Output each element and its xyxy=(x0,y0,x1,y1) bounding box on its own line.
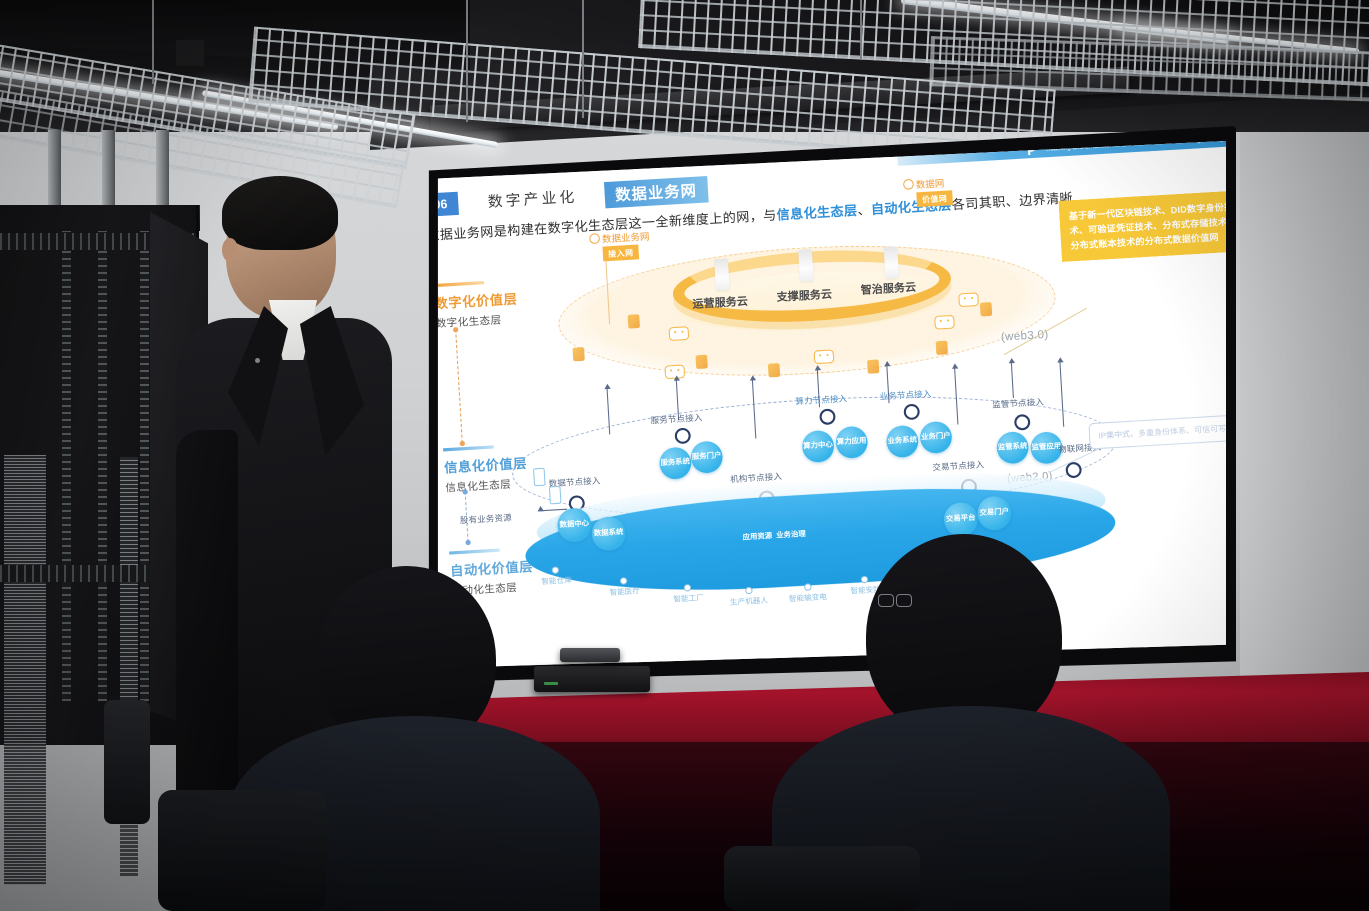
layer-connector-digital xyxy=(455,329,464,443)
chair-left xyxy=(158,790,326,911)
tray-hanger xyxy=(582,0,584,118)
cloud-pillar xyxy=(798,249,814,281)
cloud-label-governance: 智治服务云 xyxy=(860,279,916,298)
robot-icon xyxy=(668,326,689,341)
mobile-icon xyxy=(549,486,562,505)
layer-accent-bar xyxy=(449,549,500,555)
blockchain-callout: 基于新一代区块链技术、DID数字身份技术、可验证凭证技术、分布式存储技术与分布式… xyxy=(1058,190,1226,262)
robot-icon xyxy=(814,349,835,364)
media-player-box[interactable] xyxy=(534,666,650,692)
leaf-dot xyxy=(684,584,692,592)
rack-rail xyxy=(98,231,107,701)
leaf-dot xyxy=(861,576,869,584)
robot-icon xyxy=(958,292,979,307)
leaf-label-warehouse: 智能仓库 xyxy=(535,576,578,587)
tray-hanger xyxy=(466,0,468,122)
device-led xyxy=(544,682,558,685)
layer-label-digital: 数字化价值层 数字化生态层 xyxy=(434,279,519,330)
cloud-label-support: 支撑服务云 xyxy=(776,286,832,305)
connector-dot xyxy=(462,489,468,495)
leaf-label-factory: 智能工厂 xyxy=(667,593,710,604)
lede-highlight-1: 信息化生态层 xyxy=(776,203,858,222)
rack-support-posts xyxy=(40,130,190,210)
connector-dot xyxy=(465,540,471,546)
rack-mesh-panel xyxy=(4,455,46,885)
display-screen: 电子政务建模仿真国家工程实验室 Modeling and Emulation i… xyxy=(434,140,1226,668)
cube-icon xyxy=(695,355,707,369)
layer-title: 数字化价值层 xyxy=(434,288,518,313)
presentation-slide: 电子政务建模仿真国家工程实验室 Modeling and Emulation i… xyxy=(434,140,1226,668)
cube-icon xyxy=(980,302,992,316)
data-business-net-label: 数据业务网 xyxy=(602,229,650,245)
leaf-label-power: 智能输变电 xyxy=(786,593,831,605)
access-net-chip: 接入网 xyxy=(602,245,639,262)
layer-accent-bar xyxy=(434,281,484,287)
conduit-bracket xyxy=(176,40,204,66)
tray-hanger xyxy=(152,0,154,84)
access-stem xyxy=(1011,362,1014,398)
screenshot-stage: 电子政务建模仿真国家工程实验室 Modeling and Emulation i… xyxy=(0,0,1369,911)
mobile-icon xyxy=(533,468,546,487)
leaf-dot xyxy=(804,583,812,591)
value-net-chip: 价值网 xyxy=(916,190,953,207)
lede-part2: 各司其职、边界清晰 xyxy=(951,191,1073,213)
internet-model-callout: IP集中式、多重身份体系、可信可写互联网 xyxy=(1088,413,1226,450)
cube-icon xyxy=(936,341,948,355)
leaf-dot xyxy=(745,587,753,595)
layer-accent-bar xyxy=(443,445,494,451)
presenter-ear xyxy=(222,238,238,262)
cube-icon xyxy=(572,347,584,361)
connector-dot xyxy=(453,327,459,333)
layer-subtitle: 数字化生态层 xyxy=(435,310,519,331)
chair-armrest-left xyxy=(104,700,150,824)
cube-icon xyxy=(768,363,780,377)
rack-rail xyxy=(62,231,71,701)
tray-hanger xyxy=(860,0,862,60)
connector-dot xyxy=(460,441,466,447)
glasses-icon xyxy=(878,594,912,606)
cloud-pillar xyxy=(714,258,730,290)
leaf-label-medical: 智能医疗 xyxy=(603,587,646,598)
slide-title: 数据业务网 xyxy=(604,176,708,208)
robot-icon xyxy=(934,315,955,330)
data-net-label: 数据网 xyxy=(915,176,944,191)
room-wall-right xyxy=(1240,60,1369,760)
wall-display[interactable]: 电子政务建模仿真国家工程实验室 Modeling and Emulation i… xyxy=(424,126,1236,682)
cloud-pillar xyxy=(884,246,900,278)
presenter-arm xyxy=(176,430,238,790)
cloud-label-operations: 运营服务云 xyxy=(692,293,748,312)
set-top-box[interactable] xyxy=(560,648,620,662)
rack-rail xyxy=(140,231,149,701)
leaf-label-robot: 生产机器人 xyxy=(727,596,772,608)
cube-icon xyxy=(867,359,879,373)
net-marker-dot xyxy=(589,233,600,244)
side-resource-label: 股有业务资源 xyxy=(460,512,512,527)
slide-section-label: 数字产业化 xyxy=(487,186,578,212)
presenter-lapel-pin xyxy=(255,358,260,363)
cube-icon xyxy=(628,314,640,328)
chair-right xyxy=(724,846,920,911)
lede-sep: 、 xyxy=(857,202,871,218)
layer-title: 自动化价值层 xyxy=(450,555,534,580)
presenter-hair xyxy=(222,176,338,250)
